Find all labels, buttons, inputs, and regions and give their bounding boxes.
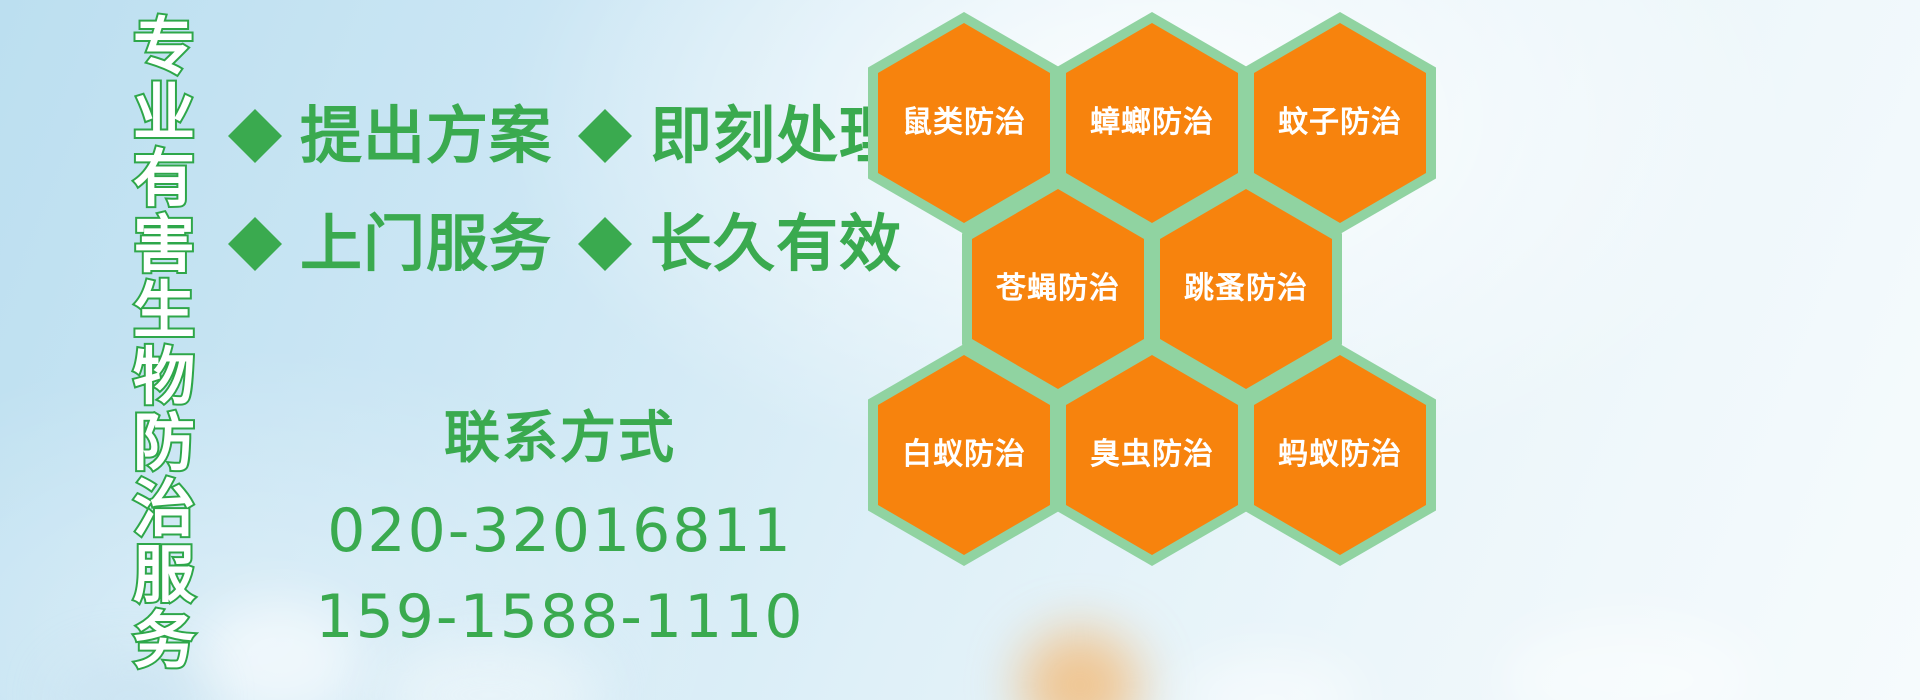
pest-control-banner: 专 业 有 害 生 物 防 治 服 务 提出方案 即刻处理 上门服务 [0, 0, 1920, 700]
contact-phone-mobile[interactable]: 159-1588-1110 [300, 574, 820, 660]
service-label: 跳蚤防治 [1184, 272, 1308, 306]
diamond-bullet-icon [578, 82, 632, 136]
hex-inner: 蟑螂防治 [1066, 23, 1238, 223]
feature-label: 提出方案 [300, 105, 552, 167]
service-label: 蟑螂防治 [1090, 106, 1214, 140]
service-label: 白蚁防治 [902, 438, 1026, 472]
headline-char: 务 [133, 608, 195, 674]
feature-row: 上门服务 长久有效 [228, 190, 868, 298]
diamond-bullet-icon [578, 190, 632, 244]
service-label: 鼠类防治 [902, 106, 1026, 140]
service-label: 苍蝇防治 [996, 272, 1120, 306]
headline-char: 害 [133, 212, 195, 278]
feature-row: 提出方案 即刻处理 [228, 82, 868, 190]
headline-char: 专 [133, 14, 195, 80]
headline-char: 服 [133, 542, 195, 608]
contact-block: 联系方式 020-32016811 159-1588-1110 [300, 404, 820, 660]
hex-inner: 跳蚤防治 [1160, 189, 1332, 389]
feature-list: 提出方案 即刻处理 上门服务 长久有效 [228, 82, 868, 298]
headline-char: 业 [133, 80, 195, 146]
headline-char: 防 [133, 410, 195, 476]
contact-phone-landline[interactable]: 020-32016811 [300, 488, 820, 574]
feature-label: 上门服务 [300, 213, 552, 275]
feature-item-propose-plan: 提出方案 [228, 105, 552, 167]
headline-char: 有 [133, 146, 195, 212]
hex-inner: 苍蝇防治 [972, 189, 1144, 389]
headline-char: 治 [133, 476, 195, 542]
feature-item-onsite-service: 上门服务 [228, 213, 552, 275]
diamond-bullet-icon [228, 82, 282, 136]
hex-inner: 蚂蚁防治 [1254, 355, 1426, 555]
hex-inner: 白蚁防治 [878, 355, 1050, 555]
diamond-bullet-icon [228, 190, 282, 244]
feature-item-long-lasting: 长久有效 [578, 213, 902, 275]
contact-title: 联系方式 [300, 404, 820, 474]
background-blur-blob [1500, 620, 1760, 700]
vertical-headline: 专 业 有 害 生 物 防 治 服 务 [108, 14, 220, 686]
headline-char: 生 [133, 278, 195, 344]
hex-inner: 鼠类防治 [878, 23, 1050, 223]
headline-char: 物 [133, 344, 195, 410]
service-label: 蚊子防治 [1278, 106, 1402, 140]
hex-inner: 蚊子防治 [1254, 23, 1426, 223]
service-label: 蚂蚁防治 [1278, 438, 1402, 472]
feature-item-immediate-treatment: 即刻处理 [578, 105, 902, 167]
hex-inner: 臭虫防治 [1066, 355, 1238, 555]
service-label: 臭虫防治 [1090, 438, 1214, 472]
service-hexagon-grid: 鼠类防治 蟑螂防治 蚊子防治 苍蝇防治 跳蚤防治 白蚁防治 [860, 0, 1460, 700]
